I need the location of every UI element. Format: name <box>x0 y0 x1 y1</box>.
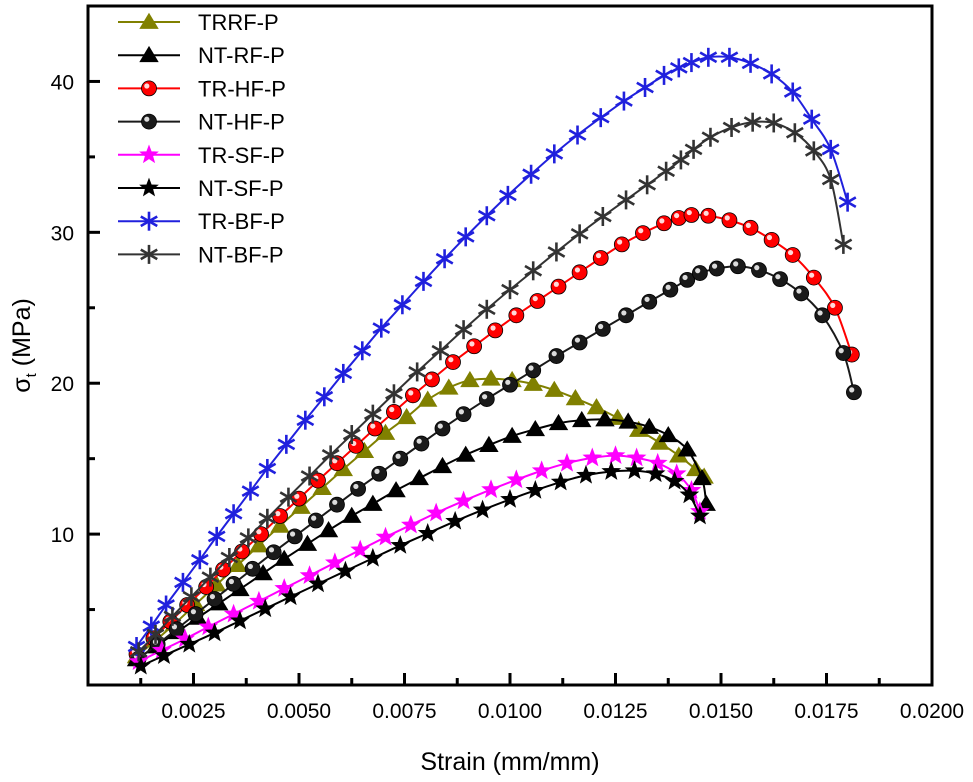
marker-highlight <box>817 310 822 315</box>
data-marker-star <box>606 446 624 463</box>
data-marker-circle <box>806 270 821 285</box>
stress-strain-chart: 0.00250.00500.00750.01000.01250.01500.01… <box>0 0 973 782</box>
data-marker-circle <box>456 407 471 422</box>
legend-label: NT-BF-P <box>198 242 284 267</box>
data-marker-star <box>140 145 158 162</box>
marker-body <box>657 216 672 231</box>
data-marker-triangle <box>588 399 606 414</box>
marker-body <box>785 247 800 262</box>
y-axis-tick-label: 20 <box>51 373 74 396</box>
marker-highlight <box>659 218 664 223</box>
y-axis-title-symbol: σ <box>8 377 36 393</box>
marker-highlight <box>575 337 580 342</box>
x-axis-tick-label: 0.0175 <box>794 700 858 723</box>
legend-entry[interactable]: TR-BF-P <box>118 209 285 234</box>
x-axis-tick-label: 0.0125 <box>583 700 647 723</box>
marker-highlight <box>459 409 464 414</box>
data-marker-asterisk <box>637 78 653 97</box>
data-marker-circle <box>526 363 541 378</box>
marker-body <box>530 293 545 308</box>
data-marker-star <box>558 454 576 471</box>
marker-body <box>503 377 518 392</box>
data-marker-circle <box>245 561 260 576</box>
data-marker-circle <box>730 259 745 274</box>
marker-highlight <box>311 516 316 521</box>
marker-highlight <box>417 439 422 444</box>
data-marker-triangle <box>387 482 405 497</box>
data-marker-triangle <box>457 446 475 461</box>
data-marker-star <box>336 562 354 579</box>
data-marker-triangle <box>433 458 451 473</box>
data-marker-asterisk <box>742 54 758 73</box>
marker-highlight <box>229 579 234 584</box>
data-marker-circle <box>142 114 157 129</box>
series-trrf-p <box>128 370 714 663</box>
data-marker-asterisk <box>569 126 585 145</box>
data-marker-circle <box>642 294 657 309</box>
data-marker-asterisk <box>502 280 518 299</box>
marker-highlight <box>482 394 487 399</box>
data-marker-star <box>402 516 420 533</box>
data-marker-circle <box>846 385 861 400</box>
x-axis-tick-label: 0.0200 <box>900 700 964 723</box>
y-axis-tick-label: 10 <box>51 524 74 547</box>
data-marker-circle <box>773 272 788 287</box>
marker-body <box>614 237 629 252</box>
data-marker-asterisk <box>618 190 634 209</box>
data-marker-circle <box>351 481 366 496</box>
marker-body <box>743 220 758 235</box>
data-marker-circle <box>405 388 420 403</box>
marker-body <box>308 513 323 528</box>
marker-body <box>593 250 608 265</box>
marker-highlight <box>490 325 495 330</box>
marker-body <box>663 282 678 297</box>
marker-body <box>509 308 524 323</box>
marker-body <box>815 308 830 323</box>
data-marker-asterisk <box>787 123 803 142</box>
marker-highlight <box>596 253 601 258</box>
marker-body <box>424 372 439 387</box>
marker-highlight <box>666 285 671 290</box>
legend-entry[interactable]: TR-HF-P <box>118 76 286 101</box>
marker-body <box>619 308 634 323</box>
marker-body <box>692 266 707 281</box>
data-marker-circle <box>572 265 587 280</box>
marker-highlight <box>332 500 337 505</box>
data-marker-circle <box>663 282 678 297</box>
marker-highlight <box>144 83 149 88</box>
x-axis-tick-label: 0.0050 <box>267 700 331 723</box>
marker-body <box>207 591 222 606</box>
marker-body <box>245 561 260 576</box>
legend-label: NT-SF-P <box>198 176 284 201</box>
data-marker-circle <box>743 220 758 235</box>
x-axis-tick-label: 0.0075 <box>372 700 436 723</box>
marker-body <box>836 346 851 361</box>
legend-entry[interactable]: TRRF-P <box>118 10 279 35</box>
data-marker-asterisk <box>822 140 838 159</box>
x-axis-tick-label: 0.0150 <box>689 700 753 723</box>
marker-body <box>773 272 788 287</box>
marker-body <box>642 294 657 309</box>
data-marker-asterisk <box>525 261 541 280</box>
data-marker-star <box>364 549 382 566</box>
data-marker-star <box>501 490 519 507</box>
legend-entry[interactable]: NT-BF-P <box>118 242 284 267</box>
data-marker-asterisk <box>455 320 471 339</box>
marker-highlight <box>687 210 692 215</box>
data-marker-circle <box>572 335 587 350</box>
marker-body <box>414 436 429 451</box>
data-marker-asterisk <box>839 193 855 212</box>
marker-body <box>142 81 157 96</box>
marker-body <box>479 392 494 407</box>
marker-body <box>446 355 461 370</box>
marker-body <box>684 207 699 222</box>
marker-body <box>351 481 366 496</box>
marker-body <box>709 261 724 276</box>
data-marker-star <box>583 448 601 465</box>
marker-highlight <box>695 268 700 273</box>
y-axis-title: σt (MPa) <box>8 298 40 393</box>
data-marker-circle <box>794 286 809 301</box>
data-marker-asterisk <box>835 235 851 254</box>
data-marker-star <box>427 503 445 520</box>
legend-label: TRRF-P <box>198 10 279 35</box>
marker-highlight <box>469 341 474 346</box>
marker-body <box>467 339 482 354</box>
data-marker-asterisk <box>763 64 779 83</box>
marker-highlight <box>275 511 280 516</box>
data-marker-circle <box>467 339 482 354</box>
legend-label: TR-BF-P <box>198 209 285 234</box>
marker-highlight <box>512 310 517 315</box>
data-marker-circle <box>386 404 401 419</box>
marker-highlight <box>644 297 649 302</box>
marker-body <box>142 114 157 129</box>
marker-highlight <box>528 365 533 370</box>
data-marker-triangle <box>480 437 498 452</box>
data-marker-triangle <box>659 427 677 442</box>
marker-body <box>367 421 382 436</box>
marker-body <box>393 451 408 466</box>
data-marker-circle <box>722 213 737 228</box>
marker-highlight <box>448 357 453 362</box>
data-marker-asterisk <box>595 207 611 226</box>
marker-body <box>551 279 566 294</box>
data-marker-star <box>602 462 620 479</box>
data-marker-circle <box>308 513 323 528</box>
data-marker-circle <box>815 308 830 323</box>
marker-highlight <box>638 228 643 233</box>
marker-highlight <box>210 594 215 599</box>
data-marker-asterisk <box>723 118 739 137</box>
data-marker-star <box>628 448 646 465</box>
data-marker-circle <box>684 207 699 222</box>
data-marker-circle <box>424 372 439 387</box>
x-axis-tick-label: 0.0025 <box>161 700 225 723</box>
marker-highlight <box>575 267 580 272</box>
marker-body <box>488 323 503 338</box>
data-marker-asterisk <box>546 144 562 163</box>
marker-highlight <box>533 296 538 301</box>
marker-highlight <box>191 609 196 614</box>
data-marker-circle <box>509 308 524 323</box>
data-marker-triangle <box>410 470 428 485</box>
marker-body <box>806 270 821 285</box>
data-marker-star <box>446 512 464 529</box>
marker-highlight <box>621 310 626 315</box>
data-marker-triangle <box>482 370 500 385</box>
marker-body <box>595 321 610 336</box>
data-marker-star <box>552 473 570 490</box>
data-marker-star <box>649 454 667 471</box>
data-marker-circle <box>226 576 241 591</box>
data-marker-circle <box>701 208 716 223</box>
data-marker-circle <box>479 392 494 407</box>
data-marker-circle <box>372 466 387 481</box>
series-nt-hf-p <box>131 259 861 666</box>
data-marker-star <box>391 536 409 553</box>
marker-highlight <box>830 303 835 308</box>
marker-body <box>329 497 344 512</box>
legend-label: TR-SF-P <box>198 143 285 168</box>
marker-highlight <box>408 390 413 395</box>
marker-highlight <box>725 215 730 220</box>
marker-highlight <box>438 423 443 428</box>
marker-highlight <box>370 423 375 428</box>
data-marker-star <box>455 491 473 508</box>
data-marker-circle <box>488 323 503 338</box>
data-marker-star <box>577 466 595 483</box>
legend-entry[interactable]: NT-SF-P <box>118 176 284 201</box>
marker-highlight <box>746 223 751 228</box>
x-axis-title: Strain (mm/mm) <box>420 748 599 776</box>
data-marker-circle <box>785 247 800 262</box>
data-marker-asterisk <box>658 162 674 181</box>
data-marker-circle <box>446 355 461 370</box>
marker-body <box>287 529 302 544</box>
data-marker-asterisk <box>432 341 448 360</box>
data-marker-circle <box>142 81 157 96</box>
data-marker-asterisk <box>822 170 838 189</box>
marker-highlight <box>598 324 603 329</box>
marker-body <box>730 259 745 274</box>
data-marker-circle <box>764 232 779 247</box>
x-axis-tick-label: 0.0100 <box>478 700 542 723</box>
data-marker-asterisk <box>571 224 587 243</box>
data-marker-asterisk <box>593 108 609 127</box>
chart-root: 0.00250.00500.00750.01000.01250.01500.01… <box>0 0 973 782</box>
legend-entry[interactable]: NT-HF-P <box>118 110 285 135</box>
data-marker-circle <box>751 263 766 278</box>
data-marker-asterisk <box>548 242 564 261</box>
data-marker-circle <box>549 349 564 364</box>
data-marker-star <box>533 461 551 478</box>
marker-highlight <box>389 407 394 412</box>
data-marker-circle <box>619 308 634 323</box>
data-marker-star <box>507 470 525 487</box>
data-marker-triangle <box>364 495 382 510</box>
marker-highlight <box>733 261 738 266</box>
data-marker-star <box>526 481 544 498</box>
marker-highlight <box>674 213 679 218</box>
data-marker-circle <box>657 216 672 231</box>
marker-highlight <box>505 380 510 385</box>
marker-highlight <box>788 250 793 255</box>
marker-body <box>456 407 471 422</box>
data-marker-circle <box>266 545 281 560</box>
marker-body <box>572 265 587 280</box>
data-marker-circle <box>709 261 724 276</box>
data-marker-circle <box>207 591 222 606</box>
marker-highlight <box>374 469 379 474</box>
marker-body <box>751 263 766 278</box>
marker-highlight <box>248 564 253 569</box>
data-marker-triangle <box>440 379 458 394</box>
data-marker-circle <box>551 279 566 294</box>
marker-highlight <box>682 275 687 280</box>
marker-body <box>435 421 450 436</box>
marker-body <box>386 404 401 419</box>
data-marker-asterisk <box>523 165 539 184</box>
marker-body <box>372 466 387 481</box>
legend-label: NT-HF-P <box>198 110 285 135</box>
data-marker-circle <box>329 497 344 512</box>
marker-highlight <box>144 117 149 122</box>
data-marker-star <box>482 480 500 497</box>
data-marker-circle <box>287 529 302 544</box>
marker-highlight <box>554 282 559 287</box>
data-marker-circle <box>635 226 650 241</box>
marker-body <box>764 232 779 247</box>
data-marker-asterisk <box>616 92 632 111</box>
marker-highlight <box>269 547 274 552</box>
marker-highlight <box>775 274 780 279</box>
marker-highlight <box>704 211 709 216</box>
data-marker-triangle <box>419 391 437 406</box>
marker-highlight <box>290 531 295 536</box>
marker-highlight <box>767 235 772 240</box>
data-marker-circle <box>367 421 382 436</box>
data-marker-circle <box>393 451 408 466</box>
data-marker-star <box>474 500 492 517</box>
data-marker-asterisk <box>479 300 495 319</box>
marker-body <box>846 385 861 400</box>
marker-body <box>701 208 716 223</box>
marker-highlight <box>796 288 801 293</box>
marker-highlight <box>552 351 557 356</box>
marker-body <box>794 286 809 301</box>
marker-body <box>526 363 541 378</box>
data-marker-star <box>419 524 437 541</box>
marker-highlight <box>754 265 759 270</box>
data-marker-circle <box>414 436 429 451</box>
data-marker-circle <box>614 237 629 252</box>
marker-highlight <box>395 454 400 459</box>
data-marker-circle <box>836 346 851 361</box>
legend-label: TR-HF-P <box>198 76 286 101</box>
data-marker-asterisk <box>639 175 655 194</box>
marker-body <box>188 607 203 622</box>
data-marker-asterisk <box>702 128 718 147</box>
data-marker-circle <box>692 266 707 281</box>
series-line <box>139 122 844 652</box>
marker-highlight <box>712 264 717 269</box>
data-marker-star <box>140 179 158 196</box>
marker-highlight <box>353 484 358 489</box>
data-marker-circle <box>595 321 610 336</box>
legend: TRRF-PNT-RF-PTR-HF-PNT-HF-PTR-SF-PNT-SF-… <box>118 10 286 267</box>
data-marker-circle <box>435 421 450 436</box>
marker-highlight <box>849 387 854 392</box>
data-marker-circle <box>530 293 545 308</box>
marker-highlight <box>809 273 814 278</box>
marker-body <box>266 545 281 560</box>
legend-entry[interactable]: NT-RF-P <box>118 43 285 68</box>
y-axis-tick-label: 40 <box>51 71 74 94</box>
legend-label: NT-RF-P <box>198 43 285 68</box>
data-marker-circle <box>188 607 203 622</box>
marker-body <box>722 213 737 228</box>
marker-body <box>549 349 564 364</box>
y-axis-tick-label: 30 <box>51 222 74 245</box>
marker-body <box>405 388 420 403</box>
marker-body <box>635 226 650 241</box>
marker-highlight <box>617 239 622 244</box>
data-marker-triangle <box>343 508 361 523</box>
data-marker-asterisk <box>656 66 672 85</box>
y-axis-title-unit: (MPa) <box>8 298 36 373</box>
data-marker-circle <box>593 250 608 265</box>
legend-entry[interactable]: TR-SF-P <box>118 143 285 168</box>
data-marker-triangle <box>566 390 584 405</box>
marker-highlight <box>427 374 432 379</box>
data-marker-circle <box>503 377 518 392</box>
marker-body <box>572 335 587 350</box>
marker-highlight <box>839 348 844 353</box>
marker-body <box>226 576 241 591</box>
